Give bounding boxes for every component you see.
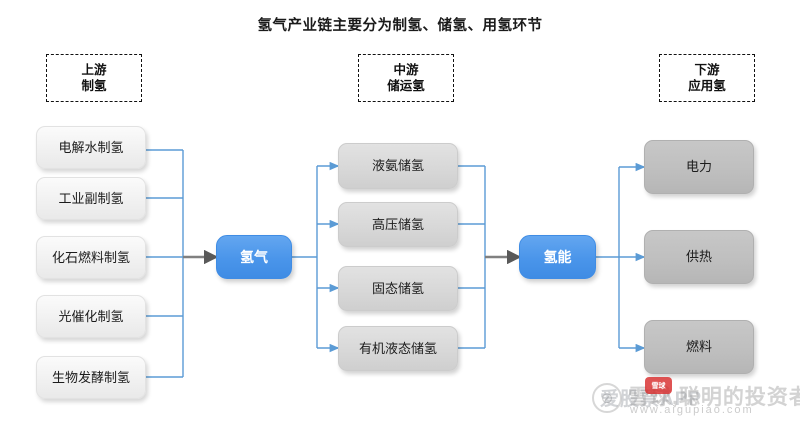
section-header-midstream-line2: 储运氢 bbox=[387, 78, 425, 94]
node-label: 固态储氢 bbox=[372, 281, 424, 297]
node-label: 工业副制氢 bbox=[58, 191, 123, 207]
watermark-url: www.aigupiao.com bbox=[630, 404, 754, 416]
node-label: 有机液态储氢 bbox=[359, 341, 437, 357]
watermark-alt-text: 爱股票APP bbox=[600, 384, 702, 411]
node-label: 液氨储氢 bbox=[372, 158, 424, 174]
upstream-links bbox=[146, 150, 183, 377]
watermark-logo-glyph: ⊘ bbox=[601, 389, 614, 407]
node-downstream-heating[interactable]: 供热 bbox=[644, 230, 754, 284]
hub-to-downstream-links bbox=[596, 167, 644, 348]
node-upstream-industrial-byproduct[interactable]: 工业副制氢 bbox=[36, 177, 146, 220]
node-label: 高压储氢 bbox=[372, 217, 424, 233]
hub-hydrogen-gas[interactable]: 氢气 bbox=[216, 235, 292, 279]
node-midstream-solid-state[interactable]: 固态储氢 bbox=[338, 266, 458, 311]
node-upstream-bio-fermentation[interactable]: 生物发酵制氢 bbox=[36, 356, 146, 399]
watermark-badge: 雪球 bbox=[645, 377, 672, 394]
section-header-upstream: 上游 制氢 bbox=[46, 54, 142, 102]
section-header-upstream-line2: 制氢 bbox=[81, 78, 106, 94]
node-label: 光催化制氢 bbox=[58, 309, 123, 325]
node-midstream-high-pressure[interactable]: 高压储氢 bbox=[338, 202, 458, 247]
section-header-midstream-line1: 中游 bbox=[393, 62, 418, 78]
hub-to-midstream-links bbox=[292, 166, 338, 348]
node-label: 供热 bbox=[686, 249, 712, 265]
section-header-downstream: 下游 应用氢 bbox=[659, 54, 755, 102]
section-header-midstream: 中游 储运氢 bbox=[358, 54, 454, 102]
watermark-logo-icon: ⊘ bbox=[592, 383, 622, 413]
node-label: 生物发酵制氢 bbox=[52, 370, 130, 386]
section-header-downstream-line2: 应用氢 bbox=[688, 78, 726, 94]
node-midstream-organic-liquid[interactable]: 有机液态储氢 bbox=[338, 326, 458, 371]
section-header-downstream-line1: 下游 bbox=[694, 62, 719, 78]
node-upstream-fossil-fuel[interactable]: 化石燃料制氢 bbox=[36, 236, 146, 279]
node-label: 燃料 bbox=[686, 339, 712, 355]
hub-label: 氢能 bbox=[544, 249, 572, 266]
node-label: 电力 bbox=[686, 159, 712, 175]
hub-label: 氢气 bbox=[240, 249, 268, 266]
section-header-upstream-line1: 上游 bbox=[81, 62, 106, 78]
page-title: 氢气产业链主要分为制氢、储氢、用氢环节 bbox=[0, 14, 800, 35]
watermark-text: 雪球,聪明的投资者都在这里 bbox=[628, 381, 800, 411]
node-upstream-photocatalysis[interactable]: 光催化制氢 bbox=[36, 295, 146, 338]
node-downstream-power[interactable]: 电力 bbox=[644, 140, 754, 194]
node-downstream-fuel[interactable]: 燃料 bbox=[644, 320, 754, 374]
node-label: 电解水制氢 bbox=[58, 140, 123, 156]
midstream-to-hub-links bbox=[458, 166, 485, 348]
node-label: 化石燃料制氢 bbox=[52, 250, 130, 266]
hub-hydrogen-energy[interactable]: 氢能 bbox=[519, 235, 596, 279]
diagram-canvas: 氢气产业链主要分为制氢、储氢、用氢环节 bbox=[0, 0, 800, 430]
node-midstream-liquid-ammonia[interactable]: 液氨储氢 bbox=[338, 143, 458, 189]
node-upstream-electrolysis[interactable]: 电解水制氢 bbox=[36, 126, 146, 169]
